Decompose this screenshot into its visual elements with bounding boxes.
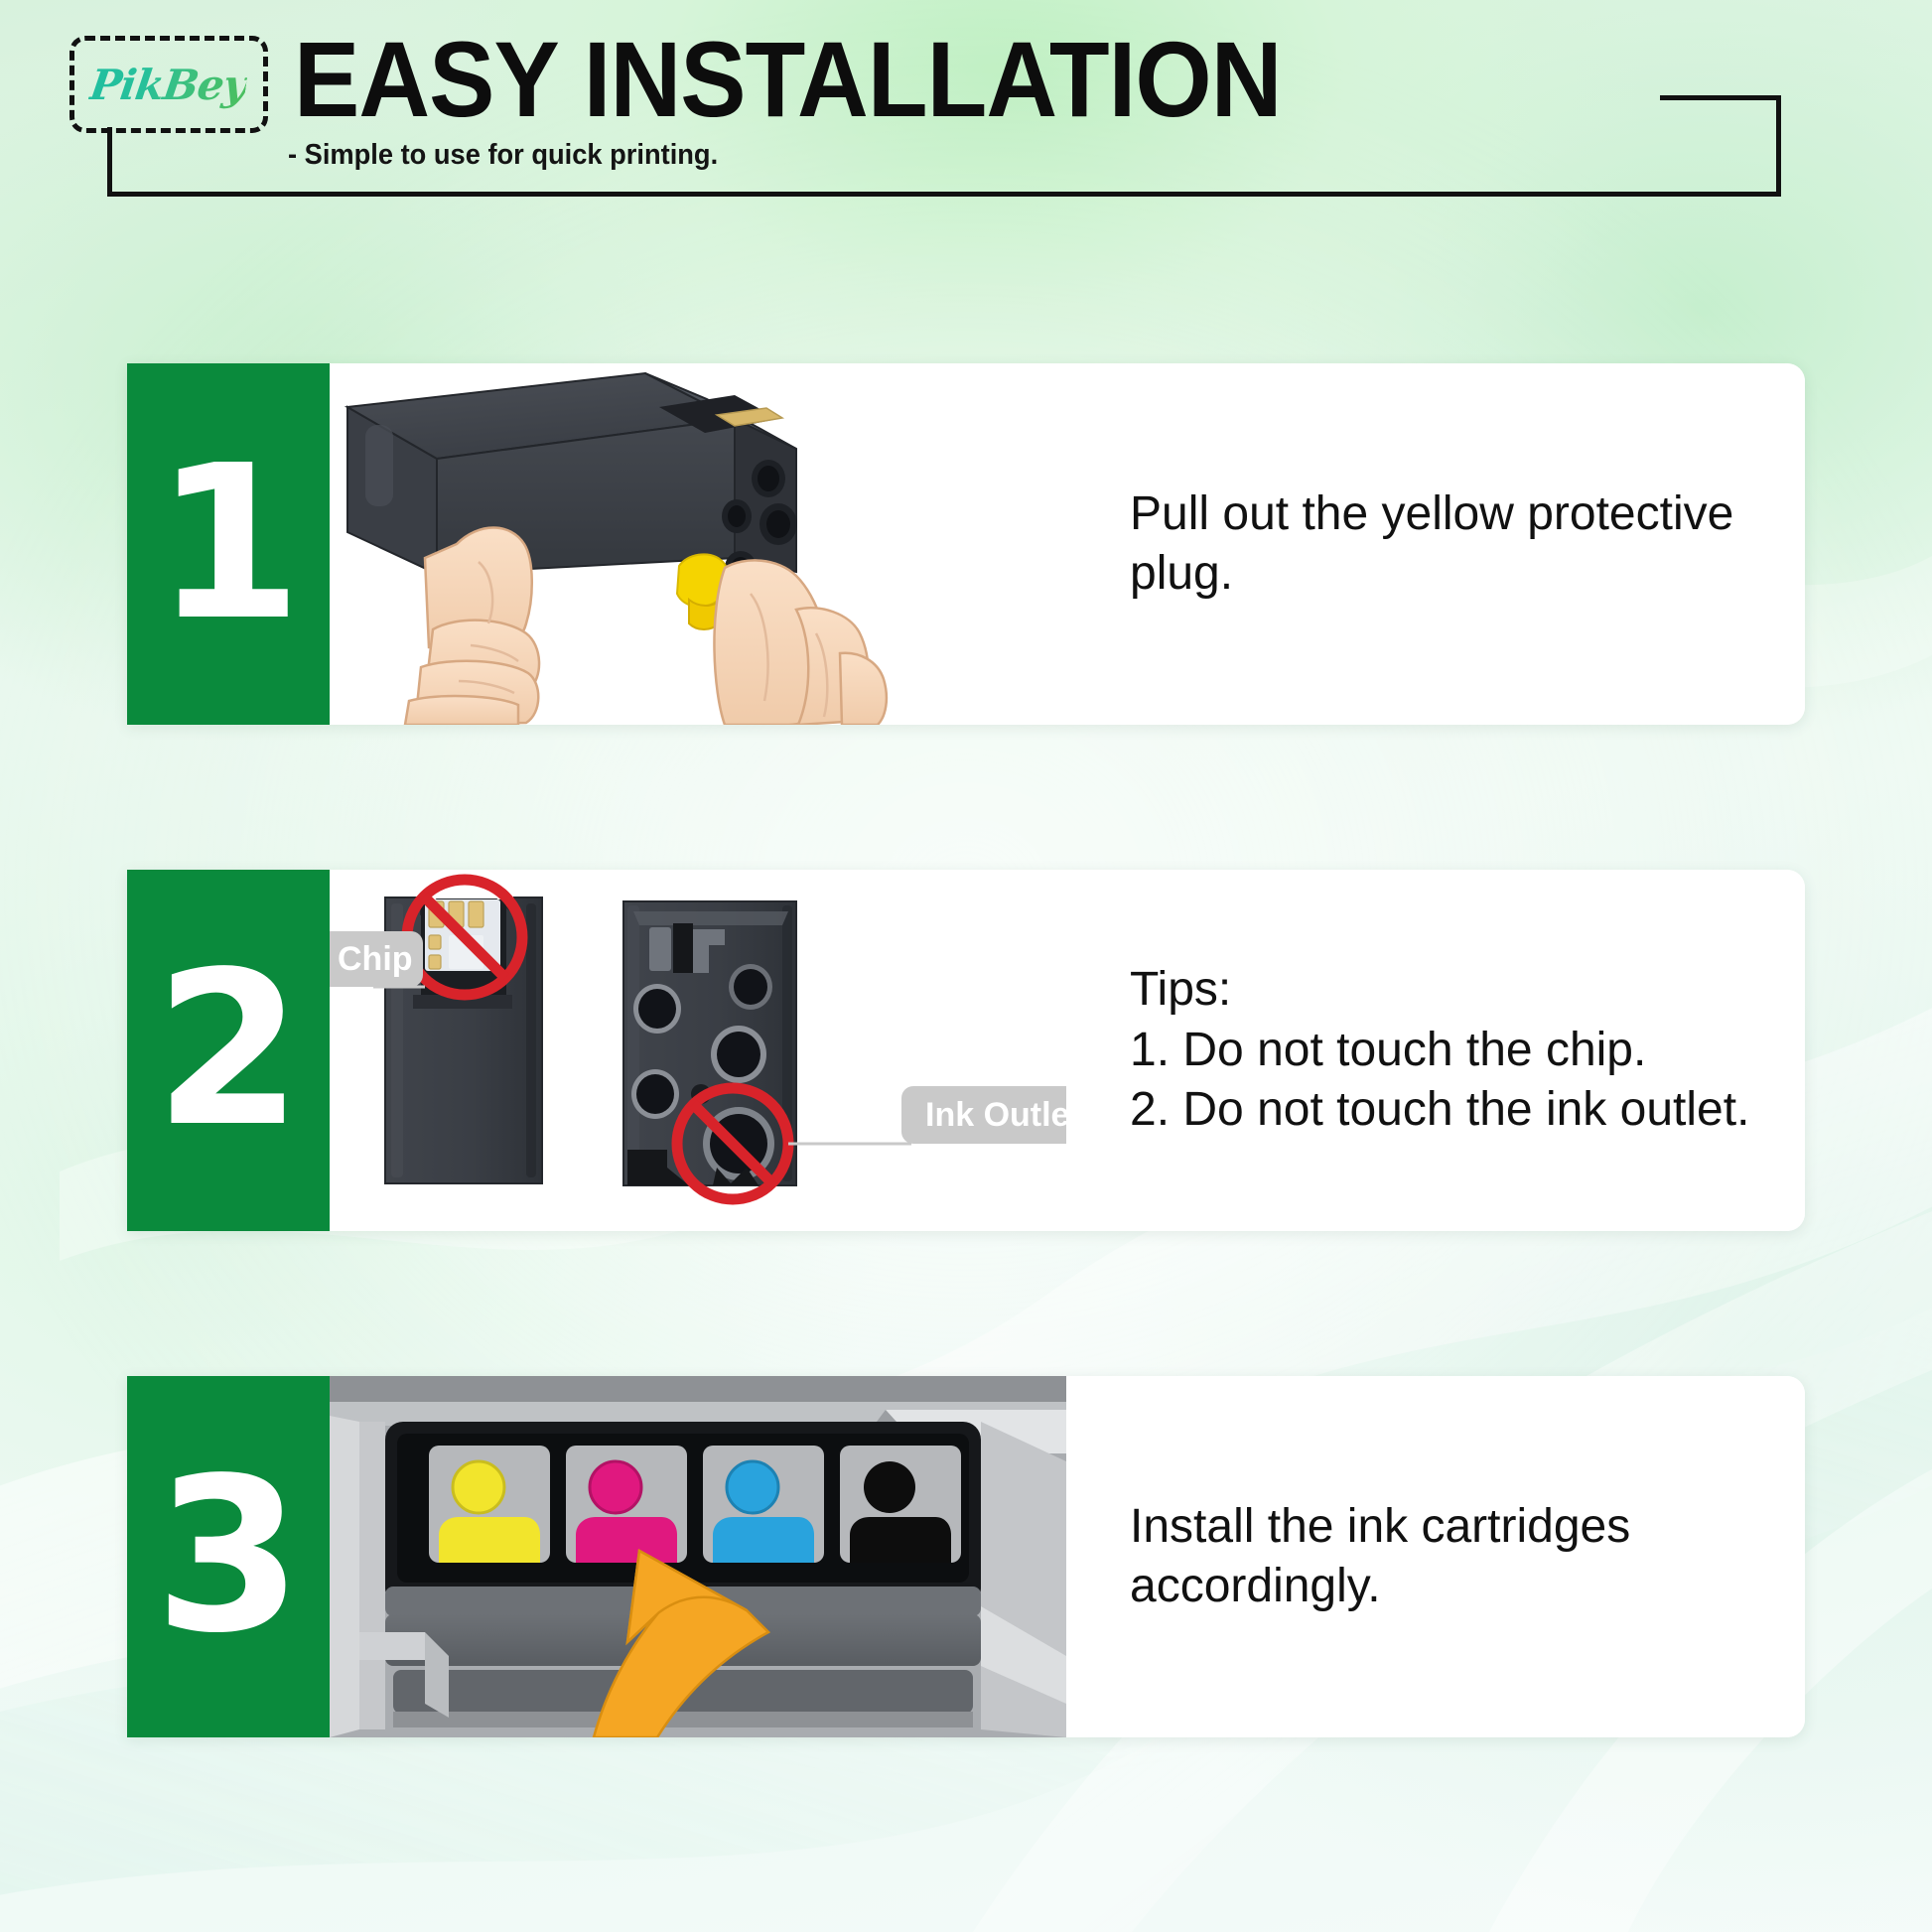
- tips-block: Tips: 1. Do not touch the chip. 2. Do no…: [1130, 960, 1749, 1140]
- step-description-1: Pull out the yellow protective plug.: [1130, 484, 1765, 605]
- step-number-3: 3: [127, 1450, 330, 1663]
- cartridge-outlet-view: [623, 901, 796, 1185]
- chip-label-callout: Chip: [330, 931, 425, 987]
- header-frame-bottom-line: [107, 192, 1781, 197]
- cartridge-slot-black: [840, 1446, 961, 1563]
- page-title: EASY INSTALLATION: [294, 26, 1282, 133]
- step-text-pane-2: Tips: 1. Do not touch the chip. 2. Do no…: [1066, 870, 1805, 1231]
- step-text-pane-3: Install the ink cartridges accordingly.: [1066, 1376, 1805, 1737]
- printer-carriage-illustration: [330, 1376, 1066, 1737]
- header-frame-right-line: [1776, 95, 1781, 197]
- cartridge-slot-yellow: [429, 1446, 550, 1563]
- step-text-pane-1: Pull out the yellow protective plug.: [1066, 363, 1805, 725]
- hand-holding-cartridge-illustration: [330, 363, 1066, 725]
- step-card-1: 1: [127, 363, 1805, 725]
- brand-logo-text: PikBey: [87, 61, 250, 109]
- brand-logo: PikBey: [69, 36, 268, 133]
- step-illustration-1: [330, 363, 1066, 725]
- step-illustration-2: Chip: [330, 870, 1066, 1231]
- tips-item-1: 1. Do not touch the chip.: [1130, 1021, 1749, 1080]
- step-card-3: 3: [127, 1376, 1805, 1737]
- ink-cartridge-body: [347, 373, 796, 574]
- ink-outlet-label-text: Ink Outlet: [925, 1096, 1066, 1134]
- header-frame-left-line: [107, 127, 112, 197]
- header-frame-top-segment: [1660, 95, 1781, 100]
- step-description-3: Install the ink cartridges accordingly.: [1130, 1497, 1765, 1617]
- tips-item-2: 2. Do not touch the ink outlet.: [1130, 1080, 1749, 1140]
- page-subtitle: - Simple to use for quick printing.: [288, 139, 718, 172]
- page-header: PikBey EASY INSTALLATION - Simple to use…: [0, 0, 1932, 218]
- ink-outlet-label-callout: Ink Outlet: [788, 1086, 1066, 1144]
- step-number-1: 1: [127, 438, 330, 650]
- hand-pulling: [714, 560, 886, 725]
- infographic-page: PikBey EASY INSTALLATION - Simple to use…: [0, 0, 1932, 1932]
- cartridge-slot-cyan: [703, 1446, 824, 1563]
- hand-holding: [405, 528, 539, 726]
- cartridge-slot-magenta: [566, 1446, 687, 1563]
- step-number-panel-2: 2: [127, 870, 330, 1231]
- chip-and-ink-outlet-illustration: Chip: [330, 870, 1066, 1231]
- step-number-panel-1: 1: [127, 363, 330, 725]
- step-number-panel-3: 3: [127, 1376, 330, 1737]
- chip-label-text: Chip: [338, 940, 413, 978]
- step-card-2: 2: [127, 870, 1805, 1231]
- tips-title: Tips:: [1130, 960, 1749, 1020]
- step-illustration-3: [330, 1376, 1066, 1737]
- step-number-2: 2: [127, 944, 330, 1157]
